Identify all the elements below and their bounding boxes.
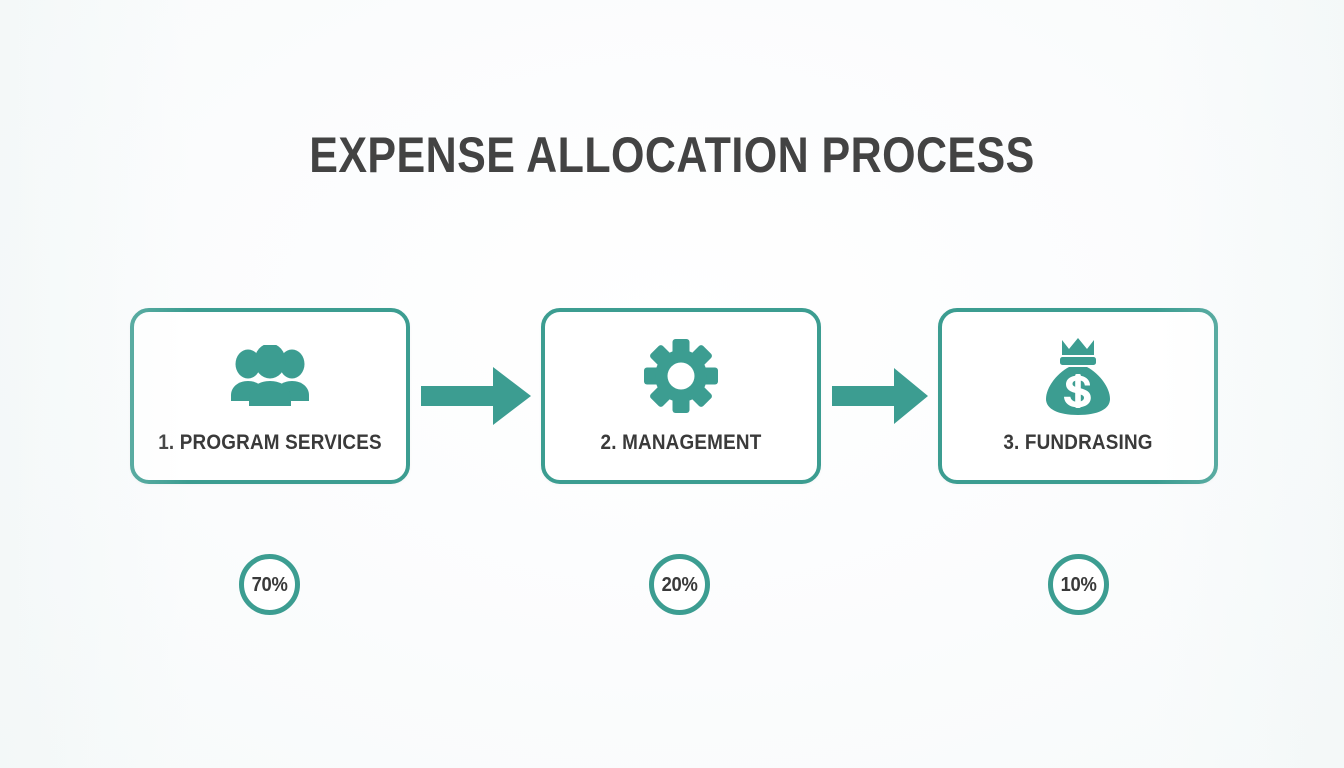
users-icon — [229, 338, 311, 414]
page-title: EXPENSE ALLOCATION PROCESS — [94, 126, 1250, 184]
arrow-right-icon-1 — [421, 367, 531, 425]
infographic-canvas: EXPENSE ALLOCATION PROCESS 1. PROGRAM SE… — [0, 0, 1344, 768]
step-card-management[interactable]: 2. MANAGEMENT — [541, 308, 821, 484]
step-card-label: 1. PROGRAM SERVICES — [148, 431, 393, 455]
process-flow: 1. PROGRAM SERVICES — [130, 308, 1218, 484]
percent-badge-label: 20% — [661, 575, 697, 595]
percent-badge-label: 70% — [251, 575, 287, 595]
arrow-right-icon-2 — [832, 368, 928, 424]
step-card-fundrasing[interactable]: 3. FUNDRASING — [938, 308, 1218, 484]
allocation-badges: 70% 20% 10% — [130, 554, 1218, 616]
money-bag-icon — [1044, 338, 1112, 414]
step-card-label: 3. FUNDRASING — [956, 431, 1201, 455]
gear-icon — [644, 338, 718, 414]
step-card-program-services[interactable]: 1. PROGRAM SERVICES — [130, 308, 410, 484]
percent-badge-fundrasing[interactable]: 10% — [1048, 554, 1109, 615]
step-card-label: 2. MANAGEMENT — [559, 431, 804, 455]
percent-badge-management[interactable]: 20% — [649, 554, 710, 615]
percent-badge-label: 10% — [1060, 575, 1096, 595]
percent-badge-program-services[interactable]: 70% — [239, 554, 300, 615]
